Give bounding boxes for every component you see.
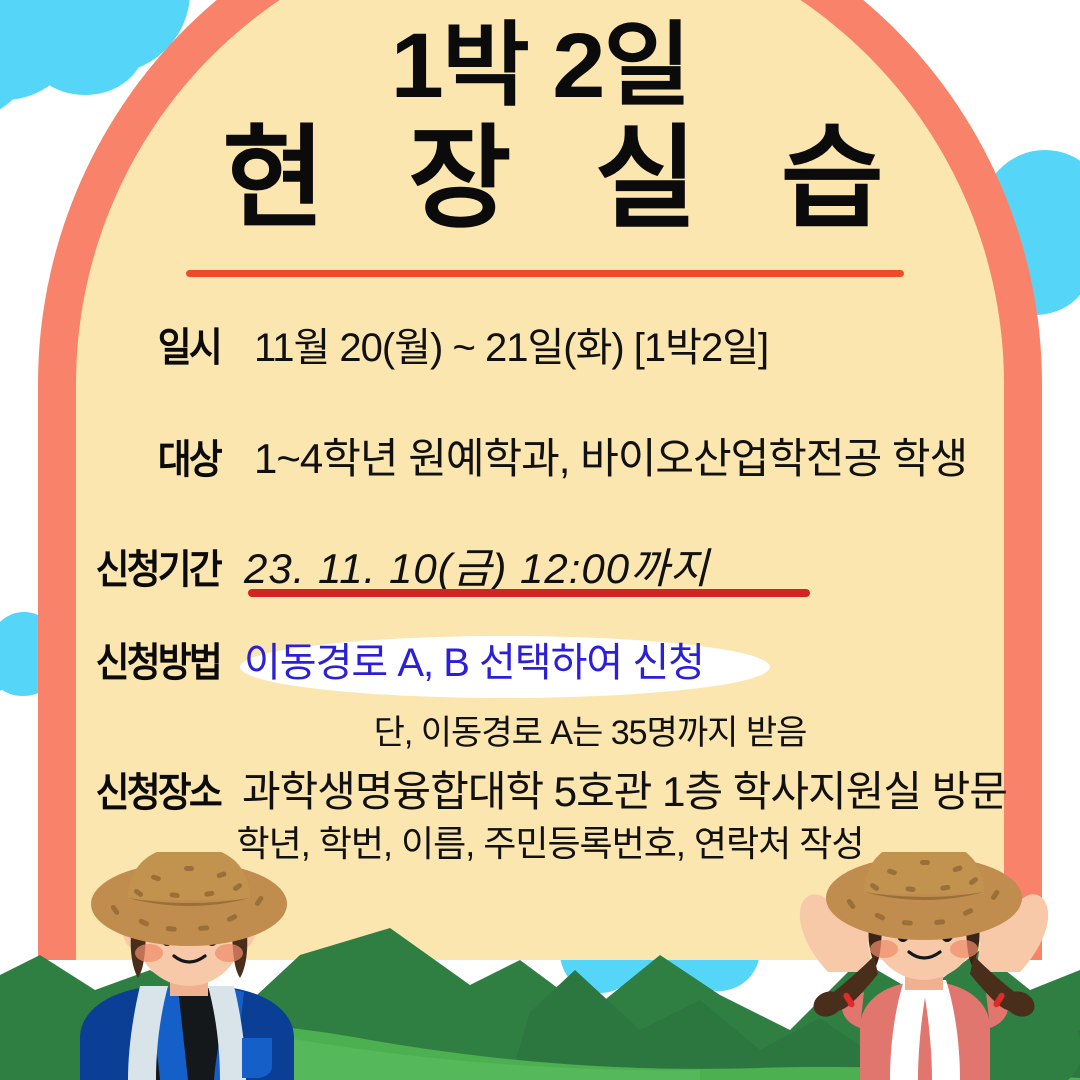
poster-title-line1: 1박 2일 [0,18,1080,114]
info-row-date: 일시 11월 20(월) ~ 21일(화) [1박2일] [0,315,1080,373]
value-period: 23. 11. 10(금) 12:00까지 [244,535,709,596]
label-place: 신청장소 [18,760,220,818]
info-row-note: 단, 이동경로 A는 35명까지 받음 [0,705,1080,754]
value-method: 이동경로 A, B 선택하여 신청 [244,630,704,688]
value-date: 11월 20(월) ~ 21일(화) [1박2일] [254,315,768,373]
info-row-target: 대상 1~4학년 원예학과, 바이오산업학전공 학생 [0,425,1080,486]
info-row-period: 신청기간 23. 11. 10(금) 12:00까지 [0,535,1080,596]
value-target: 1~4학년 원예학과, 바이오산업학전공 학생 [254,425,967,486]
poster-title-line2: 현 장 실 습 [0,120,1080,238]
info-row-place: 신청장소 과학생명융합대학 5호관 1층 학사지원실 방문 [0,758,1080,819]
value-note: 단, 이동경로 A는 35명까지 받음 [374,714,807,752]
value-place: 과학생명융합대학 5호관 1층 학사지원실 방문 [242,758,1007,819]
label-method: 신청방법 [18,630,220,688]
boy-farmer-illustration [28,852,358,1080]
poster-canvas: 1박 2일 현 장 실 습 일시 11월 20(월) ~ 21일(화) [1박2… [0,0,1080,1080]
girl-farmer-illustration [768,852,1080,1080]
label-date: 일시 [18,315,220,373]
info-row-method: 신청방법 이동경로 A, B 선택하여 신청 [0,630,1080,688]
period-underline [248,589,810,597]
title-divider [186,270,904,277]
label-period: 신청기간 [18,537,220,595]
label-target: 대상 [18,427,220,485]
